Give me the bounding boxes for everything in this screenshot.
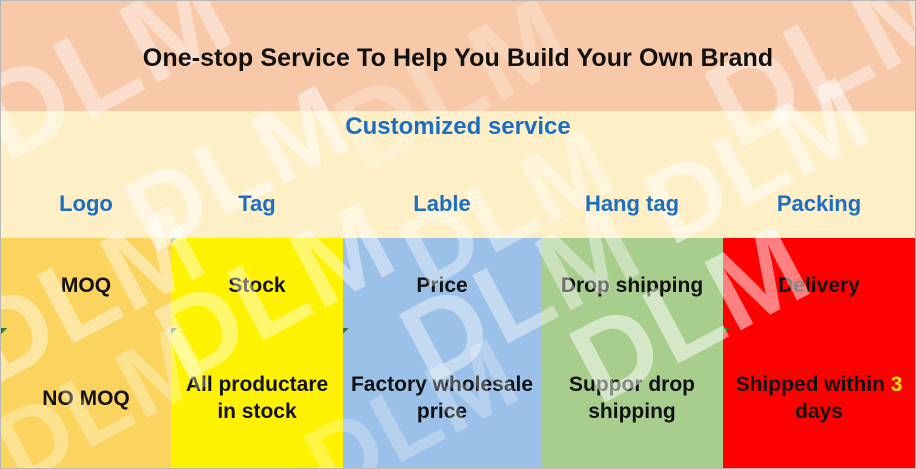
feature-column-drop-shipping: Drop shipping Suppor drop shipping xyxy=(541,238,723,469)
service-label-logo: Logo xyxy=(1,179,171,229)
service-label-hang-tag: Hang tag xyxy=(541,179,723,229)
delivery-text-suffix: days xyxy=(795,400,843,423)
service-label-lable: Lable xyxy=(343,179,541,229)
feature-heading-moq: MOQ xyxy=(1,238,171,334)
feature-body-stock: All productare in stock xyxy=(171,334,343,469)
delivery-days-highlight: 3 xyxy=(891,373,903,396)
service-label-tag: Tag xyxy=(171,179,343,229)
promo-banner: One-stop Service To Help You Build Your … xyxy=(0,0,916,469)
customized-service-title: Customized service xyxy=(1,113,915,141)
feature-column-stock: Stock All productare in stock xyxy=(171,238,343,469)
feature-body-drop-shipping: Suppor drop shipping xyxy=(541,334,723,469)
feature-column-moq: MOQ NO MOQ xyxy=(1,238,171,469)
feature-heading-stock: Stock xyxy=(171,238,343,334)
feature-column-delivery: Delivery Shipped within 3 days xyxy=(723,238,915,469)
delivery-text-prefix: Shipped within xyxy=(736,373,891,396)
feature-heading-price: Price xyxy=(343,238,541,334)
page-title: One-stop Service To Help You Build Your … xyxy=(1,1,915,111)
feature-column-row: MOQ NO MOQ Stock All productare in stock… xyxy=(1,238,915,469)
feature-body-delivery: Shipped within 3 days xyxy=(723,334,915,469)
feature-body-price: Factory wholesale price xyxy=(343,334,541,469)
feature-body-moq: NO MOQ xyxy=(1,334,171,469)
feature-heading-delivery: Delivery xyxy=(723,238,915,334)
feature-heading-drop-shipping: Drop shipping xyxy=(541,238,723,334)
customized-service-label-row: Logo Tag Lable Hang tag Packing xyxy=(1,179,915,229)
feature-column-price: Price Factory wholesale price xyxy=(343,238,541,469)
service-label-packing: Packing xyxy=(723,179,915,229)
